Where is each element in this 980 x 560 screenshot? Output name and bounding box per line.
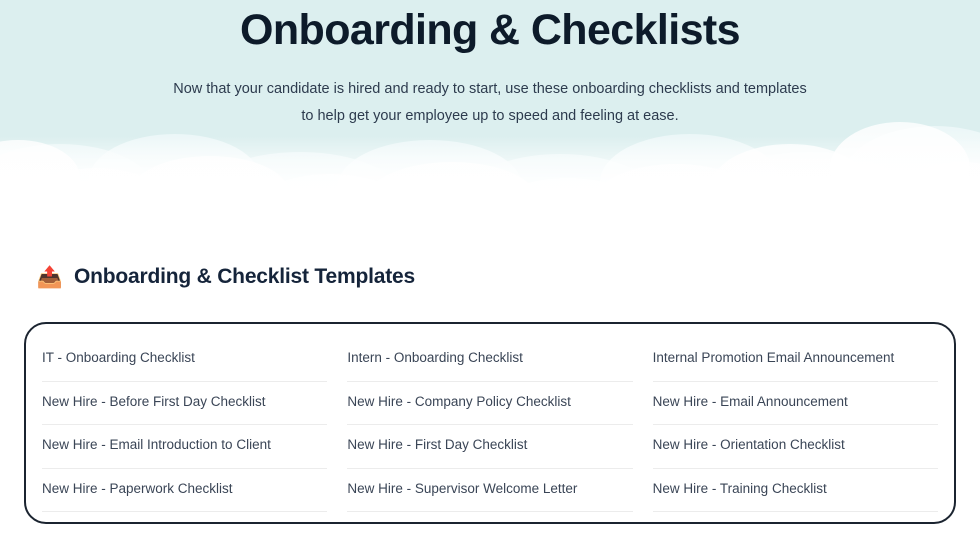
outbox-tray-icon: 📤 <box>38 264 62 290</box>
page-title: Onboarding & Checklists <box>0 4 980 56</box>
template-link[interactable]: Intern - Onboarding Checklist <box>347 338 632 382</box>
page-hero: Onboarding & Checklists Now that your ca… <box>0 0 980 232</box>
cloud-fade-overlay <box>0 136 980 232</box>
template-link[interactable]: Internal Promotion Email Announcement <box>653 338 938 382</box>
template-link[interactable]: IT - Onboarding Checklist <box>42 338 327 382</box>
template-link[interactable]: New Hire - Orientation Checklist <box>653 425 938 469</box>
template-link[interactable]: New Hire - Email Introduction to Client <box>42 425 327 469</box>
templates-column-2: Intern - Onboarding Checklist New Hire -… <box>347 338 632 512</box>
templates-column-1: IT - Onboarding Checklist New Hire - Bef… <box>42 338 327 512</box>
template-link[interactable]: New Hire - Before First Day Checklist <box>42 382 327 426</box>
template-link[interactable]: New Hire - Company Policy Checklist <box>347 382 632 426</box>
template-link[interactable]: New Hire - Supervisor Welcome Letter <box>347 469 632 513</box>
template-link[interactable]: New Hire - Paperwork Checklist <box>42 469 327 513</box>
templates-grid: IT - Onboarding Checklist New Hire - Bef… <box>42 338 938 512</box>
template-link[interactable]: New Hire - Email Announcement <box>653 382 938 426</box>
section-header: 📤 Onboarding & Checklist Templates <box>38 264 956 290</box>
templates-card: IT - Onboarding Checklist New Hire - Bef… <box>24 322 956 524</box>
page-subtitle: Now that your candidate is hired and rea… <box>170 76 810 130</box>
template-link[interactable]: New Hire - First Day Checklist <box>347 425 632 469</box>
main-content: 📤 Onboarding & Checklist Templates IT - … <box>0 264 980 524</box>
templates-column-3: Internal Promotion Email Announcement Ne… <box>653 338 938 512</box>
section-title: Onboarding & Checklist Templates <box>74 265 415 289</box>
template-link[interactable]: New Hire - Training Checklist <box>653 469 938 513</box>
